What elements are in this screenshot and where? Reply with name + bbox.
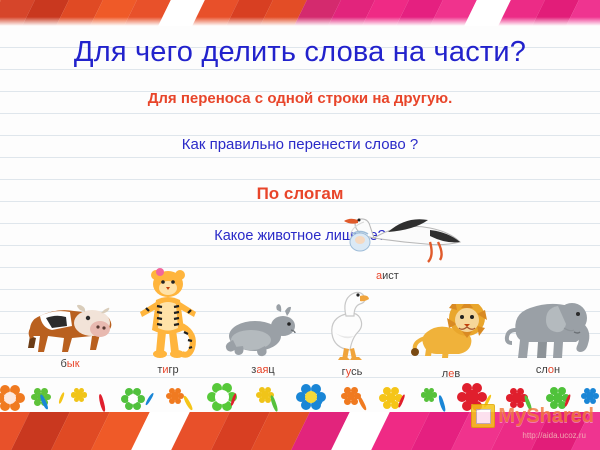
flower-center — [586, 392, 594, 400]
subtitle-question-odd-animal: Какое животное лишнее? — [0, 228, 600, 244]
stork-label: аист — [376, 270, 399, 282]
flower-center — [512, 393, 522, 403]
flower-0 — [0, 382, 26, 414]
stork-icon — [334, 208, 466, 272]
flower-2 — [70, 386, 88, 404]
myshared-watermark: MyShared — [471, 404, 594, 428]
myshared-brand-text: MyShared — [498, 405, 594, 428]
elephant-icon — [502, 294, 594, 360]
confetti-blade-10 — [437, 395, 446, 412]
confetti-blade-3 — [145, 392, 155, 406]
flower-center — [261, 391, 269, 399]
hare-icon — [221, 304, 305, 358]
top-stripe-band — [0, 0, 600, 26]
myshared-logo-icon — [471, 404, 495, 428]
flower-10 — [420, 386, 438, 404]
flower-center — [465, 390, 479, 404]
subtitle-transfer-reason: Для переноса с одной строки на другую. — [0, 90, 600, 107]
flower-center — [75, 391, 82, 398]
top-band-fade — [0, 17, 600, 26]
flower-4 — [165, 386, 185, 406]
lion-icon — [409, 304, 493, 364]
page-title: Для чего делить слова на части? — [0, 36, 600, 69]
flower-center — [425, 391, 432, 398]
slide-canvas: Для чего делить слова на части? Для пере… — [0, 0, 600, 450]
confetti-blade-2 — [98, 394, 107, 412]
flower-center — [171, 392, 179, 400]
watermark-url: http://aida.ucoz.ru — [522, 431, 586, 440]
subtitle-answer-syllables: По слогам — [0, 184, 600, 204]
tiger-icon — [132, 266, 204, 360]
flower-3 — [120, 386, 146, 412]
flower-center — [215, 390, 229, 404]
flower-14 — [580, 386, 600, 406]
bull-icon — [22, 296, 118, 356]
animal-stork[interactable]: аист — [330, 208, 470, 318]
confetti-blade-1 — [58, 392, 65, 404]
subtitle-question-how: Как правильно перенести слово ? — [0, 136, 600, 153]
